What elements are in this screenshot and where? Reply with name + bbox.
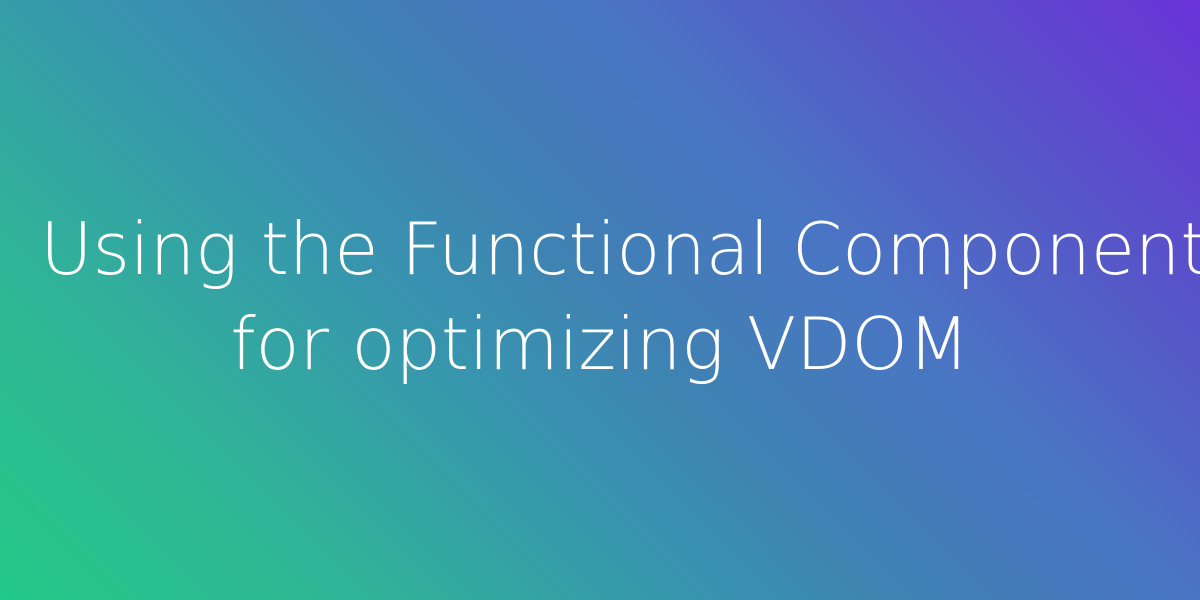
title-line-1: Using the Functional Components: [40, 202, 1160, 297]
title-banner: Using the Functional Components for opti…: [0, 0, 1200, 600]
title-line-2: for optimizing VDOM: [40, 297, 1160, 392]
title-block: Using the Functional Components for opti…: [20, 202, 1180, 392]
